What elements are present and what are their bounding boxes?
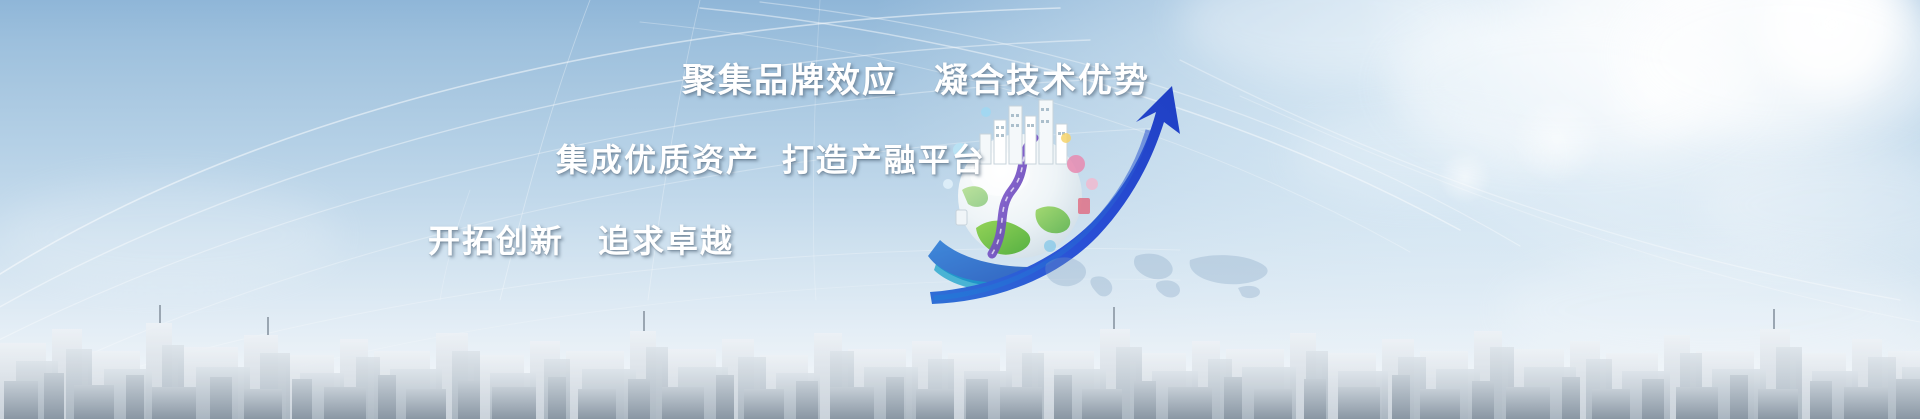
hero-banner: 聚集品牌效应 凝合技术优势 集成优质资产 打造产融平台 开拓创新 追求卓越 bbox=[0, 0, 1920, 419]
city-skyline-icon bbox=[0, 289, 1920, 419]
